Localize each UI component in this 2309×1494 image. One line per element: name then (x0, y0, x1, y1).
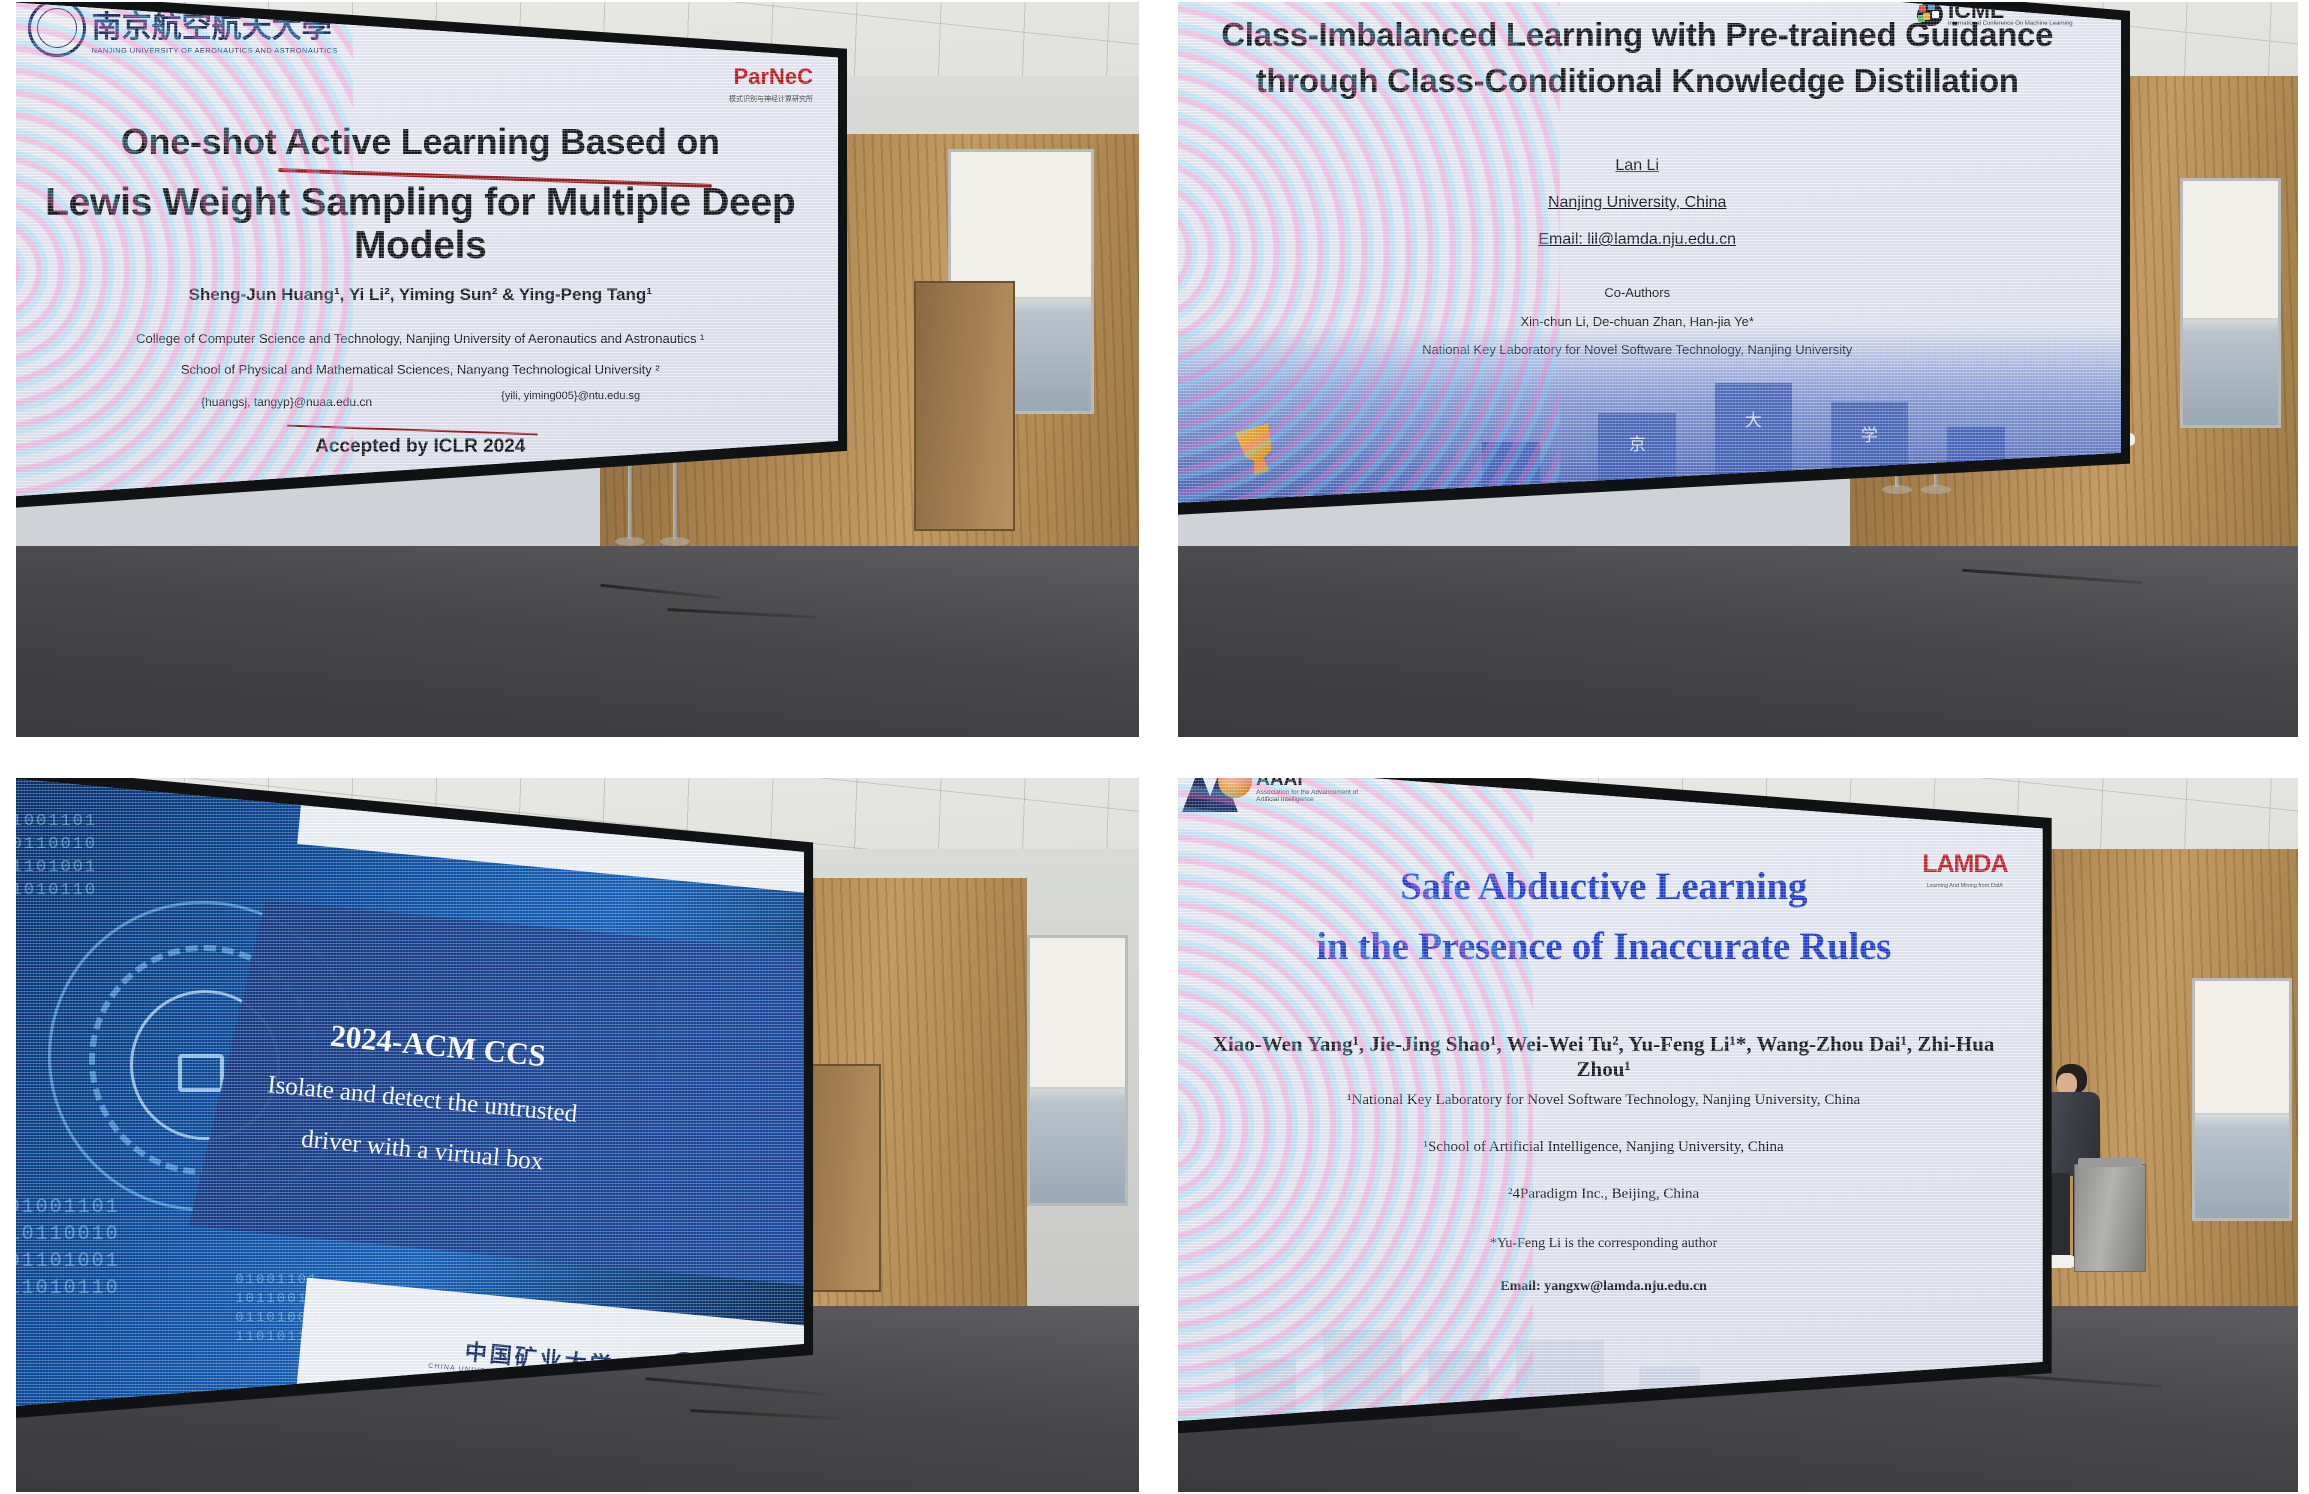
slide-title-line-2: in the Presence of Inaccurate Rules (1178, 925, 2043, 969)
aaai-wordmark: AAAI (1256, 778, 1376, 789)
window (2192, 978, 2293, 1221)
slide-one-shot-active-learning: 南京航空航天大學 NANJING UNIVERSITY OF AERONAUTI… (16, 2, 838, 500)
parnec-logo: ParNeC 模式识别与神经计算研究所 (729, 66, 813, 104)
skyline-char: 大 (1715, 406, 1792, 431)
floor (16, 546, 1139, 737)
photo-grid: 南京航空航天大學 NANJING UNIVERSITY OF AERONAUTI… (0, 0, 2309, 1494)
panel-acm-ccs-untrusted-driver: 01001101 10110010 01101001 11010110 0100… (16, 778, 1139, 1492)
slide-affiliation-1: ¹National Key Laboratory for Novel Softw… (1178, 1092, 2043, 1109)
led-screen-frame: 南京航空航天大學 NANJING UNIVERSITY OF AERONAUTI… (16, 2, 847, 509)
slide-coauthors-label: Co-Authors (1178, 285, 2121, 300)
slide-speaker-email: Email: lil@lamda.nju.edu.cn (1178, 231, 2121, 249)
aaai-mark-icon (1182, 778, 1248, 812)
slide-affiliation-1: College of Computer Science and Technolo… (16, 331, 838, 346)
slide-affiliation-2: School of Physical and Mathematical Scie… (16, 362, 838, 377)
skyline-building (1323, 1330, 1402, 1426)
slide-affiliation-3: ²4Paradigm Inc., Beijing, China (1178, 1186, 2043, 1203)
slide-class-imbalanced-learning: lamda.nju.edu.cn ICML International Conf… (1178, 2, 2121, 508)
slide-safe-abductive-learning: AAAI Association for the Advancement of … (1178, 778, 2043, 1426)
presenter-leg (2051, 1173, 2070, 1259)
slide-affiliation-2: ¹School of Artificial Intelligence, Nanj… (1178, 1139, 2043, 1156)
skyline-char: 学 (1831, 421, 1908, 446)
floor (1178, 546, 2298, 737)
slide-authors: Sheng-Jun Huang¹, Yi Li², Yiming Sun² & … (16, 285, 838, 305)
slide-title-line-2: Lewis Weight Sampling for Multiple Deep … (16, 181, 838, 268)
led-screen: 南京航空航天大學 NANJING UNIVERSITY OF AERONAUTI… (16, 2, 838, 500)
led-screen: AAAI Association for the Advancement of … (1178, 778, 2043, 1426)
parnec-mark: ParNeC (733, 66, 812, 88)
parnec-name-cn: 模式识别与神经计算研究所 (729, 94, 813, 104)
slide-speaker-affiliation: Nanjing University, China (1178, 194, 2121, 212)
slide-corresponding-author-note: *Yu-Feng Li is the corresponding author (1178, 1236, 2043, 1252)
slide-title-line-1: One-shot Active Learning Based on (16, 122, 838, 162)
led-screen: 01001101 10110010 01101001 11010110 0100… (16, 778, 804, 1412)
panel-class-imbalanced-learning: lamda.nju.edu.cn ICML International Conf… (1178, 2, 2298, 737)
skyline-building (1235, 1359, 1296, 1426)
slide-title-line-1: Safe Abductive Learning (1178, 865, 2043, 909)
skyline-char: 京 (1598, 430, 1675, 455)
led-screen-frame: 01001101 10110010 01101001 11010110 0100… (16, 778, 813, 1421)
nuaa-seal-icon (28, 2, 86, 57)
panel-one-shot-active-learning: 南京航空航天大學 NANJING UNIVERSITY OF AERONAUTI… (16, 2, 1139, 737)
led-screen-frame: AAAI Association for the Advancement of … (1178, 778, 2052, 1435)
footer-rule (287, 424, 538, 435)
slide-acm-ccs: 01001101 10110010 01101001 11010110 0100… (16, 778, 804, 1412)
slide-title-line-1: Class-Imbalanced Learning with Pre-train… (1178, 17, 2121, 54)
binary-art: 01001101 10110010 01101001 11010110 (16, 811, 97, 903)
window (2180, 178, 2281, 428)
slide-title-line-2: through Class-Conditional Knowledge Dist… (1178, 63, 2121, 100)
aaai-tagline: Association for the Advancement of Artif… (1256, 789, 1376, 804)
panel-safe-abductive-learning: AAAI Association for the Advancement of … (1178, 778, 2298, 1492)
slide-footer-badge: Accepted by ICLR 2024 (16, 436, 838, 458)
podium (2074, 1164, 2146, 1272)
nuaa-name-en: NANJING UNIVERSITY OF AERONAUTICS AND AS… (92, 46, 338, 55)
led-screen-frame: lamda.nju.edu.cn ICML International Conf… (1178, 2, 2130, 517)
led-screen: lamda.nju.edu.cn ICML International Conf… (1178, 2, 2121, 508)
window (1027, 935, 1128, 1206)
slide-authors: Xiao-Wen Yang¹, Jie-Jing Shao¹, Wei-Wei … (1178, 1032, 2043, 1082)
binary-art: 01001101 10110010 01101001 11010110 (16, 1194, 120, 1302)
aaai-logo: AAAI Association for the Advancement of … (1182, 778, 1376, 812)
slide-speaker-name: Lan Li (1178, 157, 2121, 175)
wall-board (914, 281, 1015, 531)
slide-email-2: {yili, yiming005}@ntu.edu.sg (153, 390, 838, 402)
